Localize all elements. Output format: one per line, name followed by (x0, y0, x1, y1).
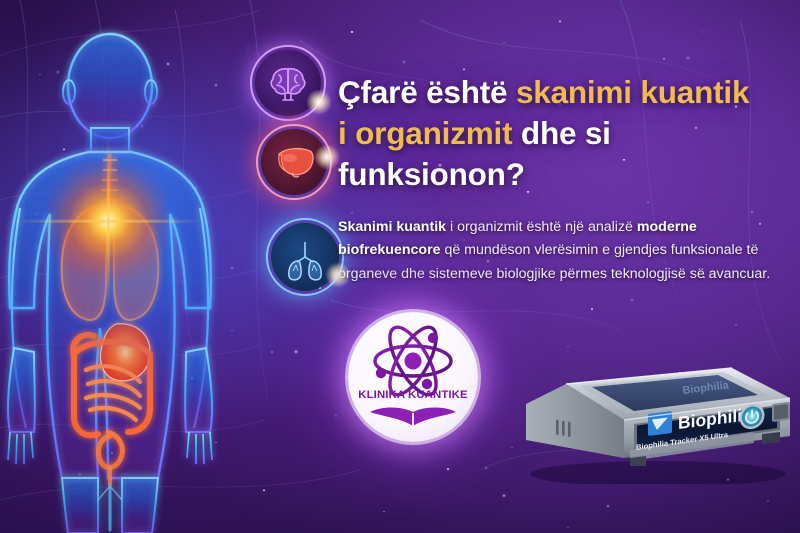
clinic-logo-inner: KLINIKA KUANTIKE (357, 321, 469, 433)
chest-energy-flare (48, 161, 168, 281)
paragraph-bold-1: Skanimi kuantik (338, 219, 446, 235)
headline-line2-highlight: i organizmit (338, 115, 512, 151)
organ-badge-liver[interactable] (256, 124, 332, 200)
paragraph-text-1: i organizmit është një analizë (446, 219, 637, 235)
headline-line1-plain: Çfarë është (338, 74, 516, 110)
headline-line1-highlight: skanimi kuantik (516, 74, 749, 110)
clinic-logo-text: KLINIKA KUANTIKE (357, 389, 469, 401)
figure-aura-glow (20, 38, 250, 478)
organ-badge-brain[interactable] (250, 45, 326, 121)
biophilia-device[interactable]: Biophilia Biophilia (518, 362, 796, 484)
human-anatomy-figure (0, 8, 290, 533)
body-paragraph: Skanimi kuantik i organizmit është një a… (338, 216, 784, 287)
organ-badge-lungs[interactable] (266, 218, 344, 296)
organ-badge-liver-sparkle (314, 144, 340, 170)
figure-svg (0, 8, 290, 533)
clinic-logo-badge[interactable]: KLINIKA KUANTIKE (348, 312, 478, 442)
poster-canvas: Çfarë është skanimi kuantik i organizmit… (0, 0, 800, 533)
open-book-icon (367, 404, 459, 432)
organ-badge-brain-sparkle (306, 89, 332, 115)
device-svg: Biophilia Biophilia (518, 362, 796, 484)
page-title: Çfarë është skanimi kuantik i organizmit… (338, 72, 786, 195)
copy-block: Çfarë është skanimi kuantik i organizmit… (338, 72, 786, 287)
